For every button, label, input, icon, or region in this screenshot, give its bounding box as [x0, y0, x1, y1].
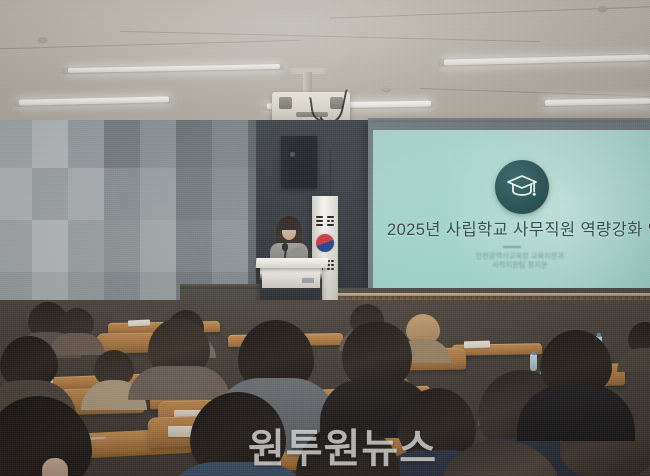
- fluorescent-strip-light-housing: [262, 99, 434, 110]
- audience-seating-area: [0, 300, 650, 476]
- taeguk-symbol: [316, 234, 334, 252]
- stage-rail: [180, 284, 270, 289]
- seated-audience-member: [628, 322, 650, 354]
- acoustic-panel: [0, 220, 32, 272]
- ceiling: [0, 0, 650, 132]
- wall-speaker: [281, 136, 317, 188]
- acoustic-panel: [212, 168, 248, 220]
- slide-title: 2025년 사립학교 사무직원 역량강화 연수: [373, 216, 650, 240]
- graduation-cap-icon: [495, 160, 549, 214]
- acoustic-panel: [0, 120, 32, 168]
- acoustic-panel: [104, 220, 140, 272]
- lecture-hall-photo: 2025년 사립학교 사무직원 역량강화 연수 인천광역시교육청 교육지원과 사…: [0, 0, 650, 476]
- audience-hand: [42, 458, 68, 476]
- fluorescent-strip-light-housing: [62, 63, 284, 74]
- seated-audience-member: [540, 330, 612, 396]
- acoustic-panel: [68, 120, 104, 168]
- acoustic-panel: [32, 120, 68, 168]
- seated-audience-member: [440, 440, 560, 476]
- acoustic-panel: [104, 120, 140, 168]
- acoustic-panel: [140, 168, 176, 220]
- fluorescent-strip-light: [545, 98, 650, 106]
- microphone-icon: [282, 243, 288, 251]
- seated-audience-member: [238, 320, 314, 392]
- ceiling-projector: [272, 92, 350, 122]
- smoke-detector-icon: [598, 6, 607, 11]
- acoustic-panel: [68, 220, 104, 272]
- slide-subtitle: 인천광역시교육청 교육지원과 사학지원팀 정지윤: [373, 252, 650, 270]
- seated-audience-member: [148, 318, 210, 376]
- seated-audience-member: [342, 322, 412, 388]
- handout-paper: [464, 341, 490, 349]
- acoustic-panel: [140, 120, 176, 168]
- projection-screen: 2025년 사립학교 사무직원 역량강화 연수 인천광역시교육청 교육지원과 사…: [373, 130, 650, 290]
- acoustic-panel: [176, 120, 212, 168]
- fluorescent-strip-light: [19, 96, 169, 105]
- acoustic-panel: [104, 168, 140, 220]
- seated-audience-member: [0, 336, 58, 388]
- presenter-fringe: [279, 219, 300, 230]
- fluorescent-strip-light-housing: [14, 95, 172, 107]
- fluorescent-strip-light: [267, 101, 431, 110]
- acoustic-panel: [212, 120, 248, 168]
- smoke-detector-icon: [382, 86, 391, 91]
- slide-divider: [503, 246, 521, 248]
- acoustic-panel: [68, 168, 104, 220]
- lectern-control-panel: [302, 278, 314, 283]
- slide-subtitle-line-1: 인천광역시교육청 교육지원과: [383, 252, 650, 261]
- seated-audience-member: [94, 350, 134, 386]
- fluorescent-strip-light-housing: [438, 53, 650, 66]
- water-bottle: [530, 354, 537, 371]
- fluorescent-strip-light: [68, 64, 280, 73]
- acoustic-panel: [140, 220, 176, 272]
- seated-audience-member: [190, 392, 286, 476]
- slide-subtitle-line-2: 사학지원팀 정지윤: [383, 261, 650, 270]
- seated-audience-member: [296, 424, 400, 476]
- fluorescent-strip-light-housing: [540, 97, 650, 107]
- fluorescent-strip-light: [444, 54, 650, 65]
- handout-paper: [128, 319, 150, 326]
- seated-audience-member: [60, 308, 94, 338]
- acoustic-panel: [32, 168, 68, 220]
- acoustic-panel: [0, 168, 32, 220]
- projector-ceiling-plate: [291, 68, 325, 74]
- acoustic-panel: [212, 220, 248, 272]
- acoustic-panel: [32, 220, 68, 272]
- acoustic-panel: [176, 168, 212, 220]
- acoustic-panel: [176, 220, 212, 272]
- smoke-detector-icon: [38, 37, 47, 42]
- lectern-top-surface: [256, 258, 329, 268]
- projector-mount: [303, 72, 312, 94]
